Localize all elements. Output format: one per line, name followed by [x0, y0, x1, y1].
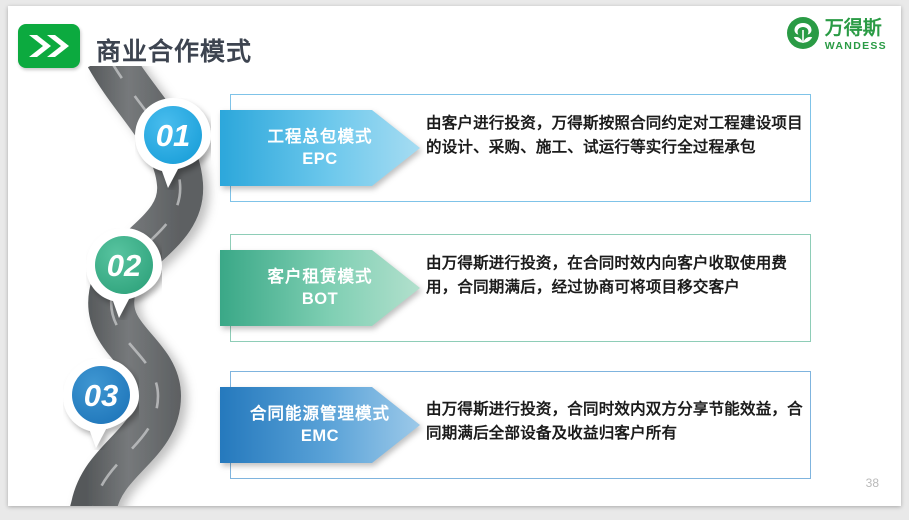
step-badge-02-number: 02 — [86, 228, 162, 304]
row-1-title-cn: 工程总包模式 — [268, 126, 373, 148]
row-2-title-en: BOT — [302, 288, 338, 310]
page-title: 商业合作模式 — [96, 32, 252, 68]
row-3-title-cn: 合同能源管理模式 — [250, 403, 390, 425]
row-3-title-en: EMC — [301, 425, 339, 447]
row-1-description: 由客户进行投资，万得斯按照合同约定对工程建设项目的设计、采购、施工、试运行等实行… — [426, 112, 804, 160]
step-badge-03[interactable]: 03 — [63, 358, 139, 448]
slide-canvas: 商业合作模式 万得斯 WANDESS — [8, 6, 901, 506]
logo-name-en: WANDESS — [825, 41, 887, 52]
row-3-description: 由万得斯进行投资，合同时效内双方分享节能效益，合同期满后全部设备及收益归客户所有 — [426, 398, 804, 446]
row-2-arrow-banner[interactable]: 客户租赁模式 BOT — [220, 246, 420, 330]
double-chevron-right-icon — [18, 24, 80, 68]
chevron-svg — [27, 33, 71, 59]
page-number: 38 — [866, 476, 879, 490]
brand-logo: 万得斯 WANDESS — [786, 16, 887, 55]
step-badge-01-number: 01 — [135, 98, 211, 174]
row-1-arrow-banner[interactable]: 工程总包模式 EPC — [220, 106, 420, 190]
step-badge-01[interactable]: 01 — [135, 98, 211, 188]
step-badge-02[interactable]: 02 — [86, 228, 162, 318]
row-1-title-en: EPC — [302, 148, 337, 170]
step-badge-03-number: 03 — [63, 358, 139, 434]
row-3-arrow-banner[interactable]: 合同能源管理模式 EMC — [220, 383, 420, 467]
logo-name-cn: 万得斯 — [825, 19, 887, 38]
row-2-title-cn: 客户租赁模式 — [268, 266, 373, 288]
row-2-description: 由万得斯进行投资，在合同时效内向客户收取使用费用，合同期满后，经过协商可将项目移… — [426, 252, 804, 300]
wandess-leaf-logo-icon — [786, 16, 820, 55]
